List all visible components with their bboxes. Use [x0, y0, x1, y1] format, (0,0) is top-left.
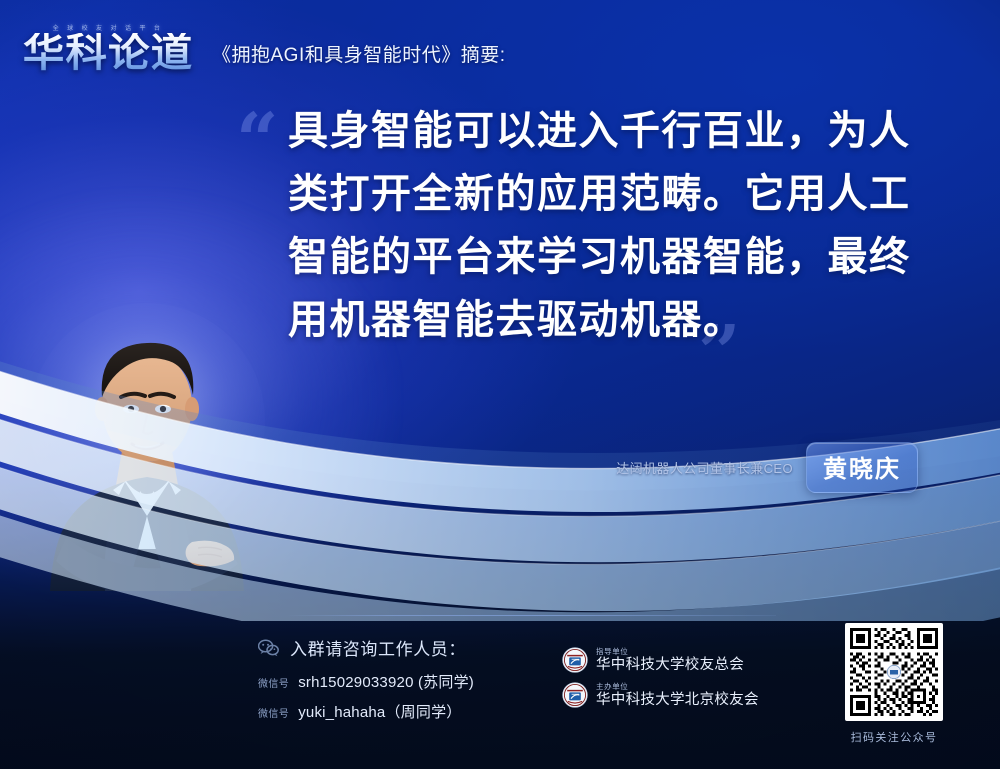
speaker-name-badge: 黄晓庆: [806, 442, 918, 493]
contact-section: 入群请咨询工作人员： 微信号 srh15029033920 (苏同学) 微信号 …: [258, 635, 474, 731]
organization-name: 华中科技大学校友总会: [596, 658, 744, 673]
qr-code-icon[interactable]: [845, 623, 943, 721]
organization-kind: 指导单位: [596, 648, 744, 656]
footer-divider: [284, 615, 776, 616]
contact-heading: 入群请咨询工作人员：: [290, 635, 466, 660]
quote-line: 具身智能可以进入千行百业，为人: [288, 100, 966, 163]
poster-canvas: 全 球 校 友 对 话 平 台 华科论道 《拥抱AGI和具身智能时代》摘要: “…: [0, 0, 1000, 769]
organization-row: 指导单位 华中科技大学校友总会: [562, 647, 759, 673]
poster-header: 全 球 校 友 对 话 平 台 华科论道 《拥抱AGI和具身智能时代》摘要:: [0, 0, 1000, 96]
contact-row: 微信号 srh15029033920 (苏同学): [258, 671, 474, 692]
organization-kind: 主办单位: [596, 683, 759, 691]
qr-caption: 扫码关注公众号: [838, 729, 950, 745]
organization-row: 主办单位 华中科技大学北京校友会: [562, 682, 759, 708]
page-title: 《拥抱AGI和具身智能时代》摘要:: [212, 40, 506, 67]
quote-line: 类打开全新的应用范畴。它用人工: [288, 163, 966, 226]
speaker-role: 达闼机器人公司董事长兼CEO: [616, 458, 793, 477]
speaker-attribution: 达闼机器人公司董事长兼CEO 黄晓庆: [616, 442, 918, 493]
quote-text: 具身智能可以进入千行百业，为人 类打开全新的应用范畴。它用人工 智能的平台来学习…: [288, 100, 966, 352]
organization-texts: 指导单位 华中科技大学校友总会: [596, 648, 744, 672]
organization-name: 华中科技大学北京校友会: [596, 693, 759, 708]
quote-line: 用机器智能去驱动机器。: [288, 289, 966, 352]
contact-label: 微信号: [258, 675, 289, 690]
quote-line: 智能的平台来学习机器智能，最终: [288, 226, 966, 289]
contact-label: 微信号: [258, 705, 289, 720]
hust-alumni-seal-icon: [562, 647, 588, 673]
poster-footer: 入群请咨询工作人员： 微信号 srh15029033920 (苏同学) 微信号 …: [0, 609, 1000, 769]
organizations-section: 指导单位 华中科技大学校友总会: [562, 647, 759, 717]
hust-alumni-seal-icon: [562, 682, 588, 708]
contact-heading-row: 入群请咨询工作人员：: [258, 635, 474, 660]
quote-open-mark: “: [236, 104, 279, 178]
brand-logo-text: 华科论道: [23, 33, 194, 73]
contact-value[interactable]: srh15029033920 (苏同学): [298, 671, 474, 692]
wechat-icon: [258, 639, 279, 657]
organization-texts: 主办单位 华中科技大学北京校友会: [596, 683, 759, 707]
contact-row: 微信号 yuki_hahaha（周同学）: [258, 701, 474, 722]
contact-value[interactable]: yuki_hahaha（周同学）: [298, 701, 461, 722]
quote-block: “ ” 具身智能可以进入千行百业，为人 类打开全新的应用范畴。它用人工 智能的平…: [236, 100, 966, 352]
brand-logo: 全 球 校 友 对 话 平 台 华科论道: [26, 23, 190, 73]
qr-section: 扫码关注公众号: [838, 623, 950, 745]
speaker-portrait: [22, 301, 272, 591]
